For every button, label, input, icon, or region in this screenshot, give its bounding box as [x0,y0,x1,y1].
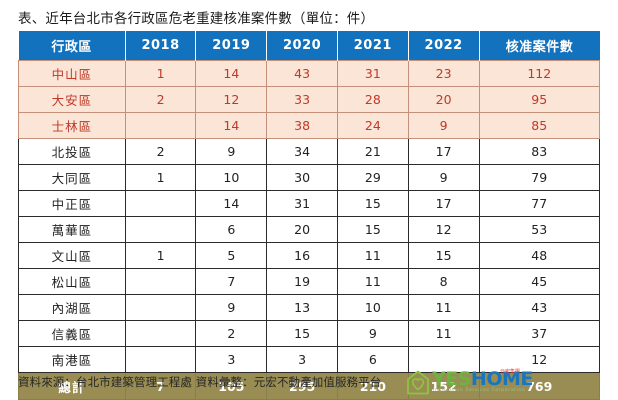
cell-2022: 17 [408,191,479,217]
column-header-approved-total: 核准案件數 [479,31,599,61]
cell-2020: 13 [267,295,338,321]
table-row: 大安區 2 12 33 28 20 95 [19,87,600,113]
cell-2019: 6 [196,217,267,243]
cell-2022: 12 [408,217,479,243]
cell-2020: 43 [267,61,338,87]
cell-2022: 8 [408,269,479,295]
column-header-2022: 2022 [408,31,479,61]
cell-2021: 10 [337,295,408,321]
cell-2018 [125,269,196,295]
header-row: 行政區 2018 2019 2020 2021 2022 核准案件數 [19,31,600,61]
cell-total: 48 [479,243,599,269]
logo-word-yes: YES [432,368,471,390]
table-row: 大同區 1 10 30 29 9 79 [19,165,600,191]
cell-2019: 7 [196,269,267,295]
cell-district: 內湖區 [19,295,126,321]
cell-2019: 10 [196,165,267,191]
cell-2021: 21 [337,139,408,165]
cell-2021: 11 [337,269,408,295]
cell-2019: 3 [196,347,267,373]
cell-district: 南港區 [19,347,126,373]
cell-2020: 30 [267,165,338,191]
cell-2020: 15 [267,321,338,347]
cell-2018: 2 [125,87,196,113]
cell-2019: 9 [196,295,267,321]
table-body: 中山區 1 14 43 31 23 112 大安區 2 12 33 28 20 … [19,61,600,400]
cell-2020: 34 [267,139,338,165]
table-row: 士林區 14 38 24 9 85 [19,113,600,139]
cell-total: 45 [479,269,599,295]
cell-2018 [125,321,196,347]
cell-2020: 3 [267,347,338,373]
table-row: 中山區 1 14 43 31 23 112 [19,61,600,87]
column-header-2020: 2020 [267,31,338,61]
cell-2019: 14 [196,191,267,217]
cell-2020: 33 [267,87,338,113]
statistics-table: 行政區 2018 2019 2020 2021 2022 核准案件數 中山區 1… [18,31,600,400]
cell-district: 中正區 [19,191,126,217]
cell-total: 53 [479,217,599,243]
logo-tagline: Innovation Services Corporation [433,388,525,393]
cell-2019: 14 [196,113,267,139]
table-row: 北投區 2 9 34 21 17 83 [19,139,600,165]
source-note: 資料來源：台北市建築管理工程處 資料彙整：元宏不動產加值服務平台 [18,374,381,390]
cell-2019: 14 [196,61,267,87]
cell-2018 [125,295,196,321]
cell-total: 77 [479,191,599,217]
cell-2018 [125,113,196,139]
table-header: 行政區 2018 2019 2020 2021 2022 核准案件數 [19,31,600,61]
cell-2020: 19 [267,269,338,295]
column-header-2019: 2019 [196,31,267,61]
cell-district: 大同區 [19,165,126,191]
cell-2018: 1 [125,165,196,191]
cell-total: 85 [479,113,599,139]
cell-2018 [125,217,196,243]
cell-2022: 11 [408,321,479,347]
cell-2018: 1 [125,243,196,269]
table-row: 松山區 7 19 11 8 45 [19,269,600,295]
page-title: 表、近年台北市各行政區危老重建核准案件數（單位：件） [18,7,374,27]
cell-2021: 11 [337,243,408,269]
cell-2018: 1 [125,61,196,87]
column-header-2021: 2021 [337,31,408,61]
cell-2018 [125,191,196,217]
cell-2022: 23 [408,61,479,87]
cell-2021: 9 [337,321,408,347]
table-row: 內湖區 9 13 10 11 43 [19,295,600,321]
table-row: 文山區 1 5 16 11 15 48 [19,243,600,269]
cell-2021: 31 [337,61,408,87]
cell-total: 37 [479,321,599,347]
cell-district: 中山區 [19,61,126,87]
cell-2021: 15 [337,217,408,243]
table-row: 萬華區 6 20 15 12 53 [19,217,600,243]
table-row: 信義區 2 15 9 11 37 [19,321,600,347]
cell-total: 43 [479,295,599,321]
cell-2019: 5 [196,243,267,269]
house-heart-icon [406,370,430,395]
column-header-district: 行政區 [19,31,126,61]
cell-total: 79 [479,165,599,191]
cell-total: 112 [479,61,599,87]
cell-district: 信義區 [19,321,126,347]
table-row: 中正區 14 31 15 17 77 [19,191,600,217]
cell-2021: 24 [337,113,408,139]
cell-2019: 9 [196,139,267,165]
cell-2019: 12 [196,87,267,113]
cell-2020: 31 [267,191,338,217]
cell-total: 95 [479,87,599,113]
cell-2019: 2 [196,321,267,347]
cell-district: 松山區 [19,269,126,295]
cell-2018 [125,347,196,373]
cell-2020: 20 [267,217,338,243]
yeshome-logo: YESHOME 元宏集團 Innovation Services Corpora… [406,368,528,398]
cell-2020: 16 [267,243,338,269]
cell-2021: 29 [337,165,408,191]
cell-district: 大安區 [19,87,126,113]
cell-district: 北投區 [19,139,126,165]
cell-2018: 2 [125,139,196,165]
cell-2021: 6 [337,347,408,373]
cell-2022: 17 [408,139,479,165]
cell-2021: 15 [337,191,408,217]
cell-2021: 28 [337,87,408,113]
cell-district: 士林區 [19,113,126,139]
cell-2022: 15 [408,243,479,269]
statistics-table-container: 行政區 2018 2019 2020 2021 2022 核准案件數 中山區 1… [18,31,600,400]
cell-2022: 11 [408,295,479,321]
logo-chinese-label: 元宏集團 [500,368,520,375]
cell-district: 萬華區 [19,217,126,243]
cell-2020: 38 [267,113,338,139]
cell-total: 83 [479,139,599,165]
cell-2022: 9 [408,165,479,191]
cell-2022: 9 [408,113,479,139]
column-header-2018: 2018 [125,31,196,61]
cell-district: 文山區 [19,243,126,269]
cell-2022: 20 [408,87,479,113]
